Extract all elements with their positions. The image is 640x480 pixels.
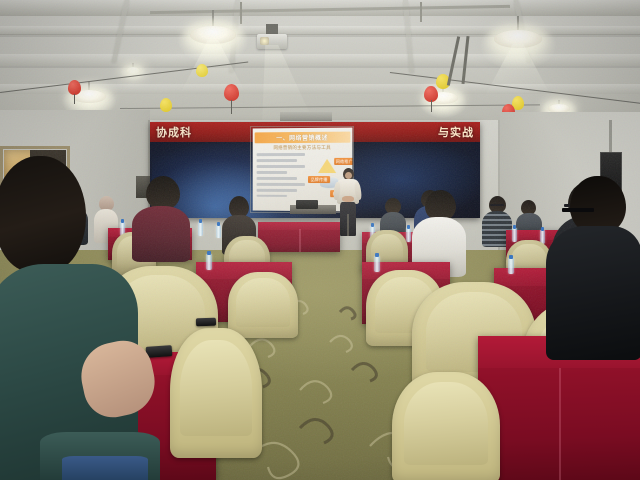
ceiling-projector [257,24,287,54]
balloon [160,98,172,112]
balloon [224,84,239,101]
water-bottle [508,258,514,274]
water-bottle [198,222,203,236]
water-bottle [206,254,212,270]
banner-title-left: 协成科 [156,124,192,140]
mobile-phone [196,318,216,327]
table [258,222,340,252]
audience-member [132,176,190,260]
speaker-mount-rod [609,120,612,154]
foreground-audience-member [40,432,160,480]
water-bottle [512,228,517,242]
laptop [296,200,318,209]
ceiling-vent [280,112,332,121]
water-bottle [374,256,380,272]
foreground-audience-member [546,176,640,356]
pendant-lamp [494,16,542,62]
conference-room-photo: 协成科 与实战 下首创发布会 Internet Conference 一、网络营… [0,0,640,480]
chair [228,272,298,338]
banner-title-right: 与实战 [438,124,474,140]
chair [170,328,262,458]
pendant-lamp [190,10,236,56]
water-bottle [216,225,221,238]
chair [392,372,500,480]
water-bottle [406,228,411,242]
balloon [196,64,208,77]
balloon [68,80,81,95]
